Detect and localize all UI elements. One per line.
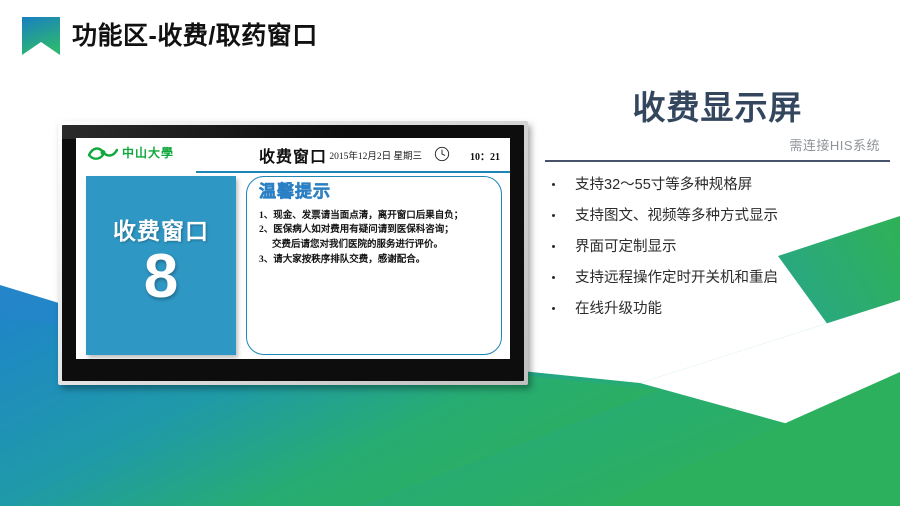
- feature-bullet-label: 支持32～55寸等多种规格屏: [575, 177, 752, 193]
- bookmark-ribbon-icon: [20, 15, 62, 57]
- notice-list-item: 2、医保病人如对费用有疑问请到医保科咨询；: [259, 223, 491, 238]
- section-divider: [545, 160, 890, 162]
- feature-bullet-label: 在线升级功能: [575, 301, 662, 317]
- slide-canvas: 功能区-收费/取药窗口 中山大學 收费窗口 2015年12月2日 星期三: [0, 0, 900, 506]
- screen-header-divider: [196, 171, 510, 173]
- screen-header: 中山大學 收费窗口 2015年12月2日 星期三 10：21: [76, 138, 510, 170]
- notice-title: 温馨提示: [259, 183, 493, 203]
- feature-bullet-item: 界面可定制显示: [545, 240, 890, 256]
- bullet-dot-icon: [552, 214, 555, 217]
- notice-list-item: 1、现金、发票请当面点清，离开窗口后果自负；: [259, 209, 491, 224]
- feature-bullet-label: 界面可定制显示: [575, 239, 677, 255]
- feature-bullet-item: 在线升级功能: [545, 302, 890, 318]
- monitor-bezel: 中山大學 收费窗口 2015年12月2日 星期三 10：21 收费窗口: [62, 125, 524, 381]
- right-content-column: 收费显示屏 需连接HIS系统 支持32～55寸等多种规格屏支持图文、视频等多种方…: [545, 90, 890, 333]
- window-number-panel: 收费窗口 8: [86, 176, 236, 355]
- feature-bullet-item: 支持图文、视频等多种方式显示: [545, 209, 890, 225]
- screen-date: 2015年12月2日 星期三: [329, 148, 422, 162]
- feature-bullet-item: 支持32～55寸等多种规格屏: [545, 178, 890, 194]
- monitor-screen: 中山大學 收费窗口 2015年12月2日 星期三 10：21 收费窗口: [76, 138, 510, 359]
- notice-list-item: 3、请大家按秩序排队交费，感谢配合。: [259, 253, 491, 268]
- screen-time: 10：21: [470, 148, 500, 163]
- bullet-dot-icon: [552, 307, 555, 310]
- page-title: 功能区-收费/取药窗口: [72, 16, 318, 52]
- notice-list-item: 交费后请您对我们医院的服务进行评价。: [259, 238, 491, 253]
- notice-list: 1、现金、发票请当面点清，离开窗口后果自负；2、医保病人如对费用有疑问请到医保科…: [255, 209, 493, 268]
- bullet-dot-icon: [552, 183, 555, 186]
- feature-bullet-label: 支持远程操作定时开关机和重启: [575, 270, 778, 286]
- analog-clock-icon: [434, 146, 450, 162]
- bullet-dot-icon: [552, 245, 555, 248]
- slide-header: 功能区-收费/取药窗口: [0, 0, 900, 70]
- feature-bullet-list: 支持32～55寸等多种规格屏支持图文、视频等多种方式显示界面可定制显示支持远程操…: [545, 178, 890, 318]
- section-heading: 收费显示屏: [545, 90, 890, 126]
- feature-bullet-label: 支持图文、视频等多种方式显示: [575, 208, 778, 224]
- feature-bullet-item: 支持远程操作定时开关机和重启: [545, 271, 890, 287]
- screen-body: 收费窗口 8 温馨提示 1、现金、发票请当面点清，离开窗口后果自负；2、医保病人…: [76, 176, 510, 355]
- bullet-dot-icon: [552, 276, 555, 279]
- window-panel-number: 8: [144, 248, 178, 307]
- window-panel-label: 收费窗口: [113, 212, 209, 246]
- section-subtitle: 需连接HIS系统: [545, 135, 890, 154]
- notice-panel: 温馨提示 1、现金、发票请当面点清，离开窗口后果自负；2、医保病人如对费用有疑问…: [246, 176, 502, 355]
- display-monitor: 中山大學 收费窗口 2015年12月2日 星期三 10：21 收费窗口: [58, 121, 528, 385]
